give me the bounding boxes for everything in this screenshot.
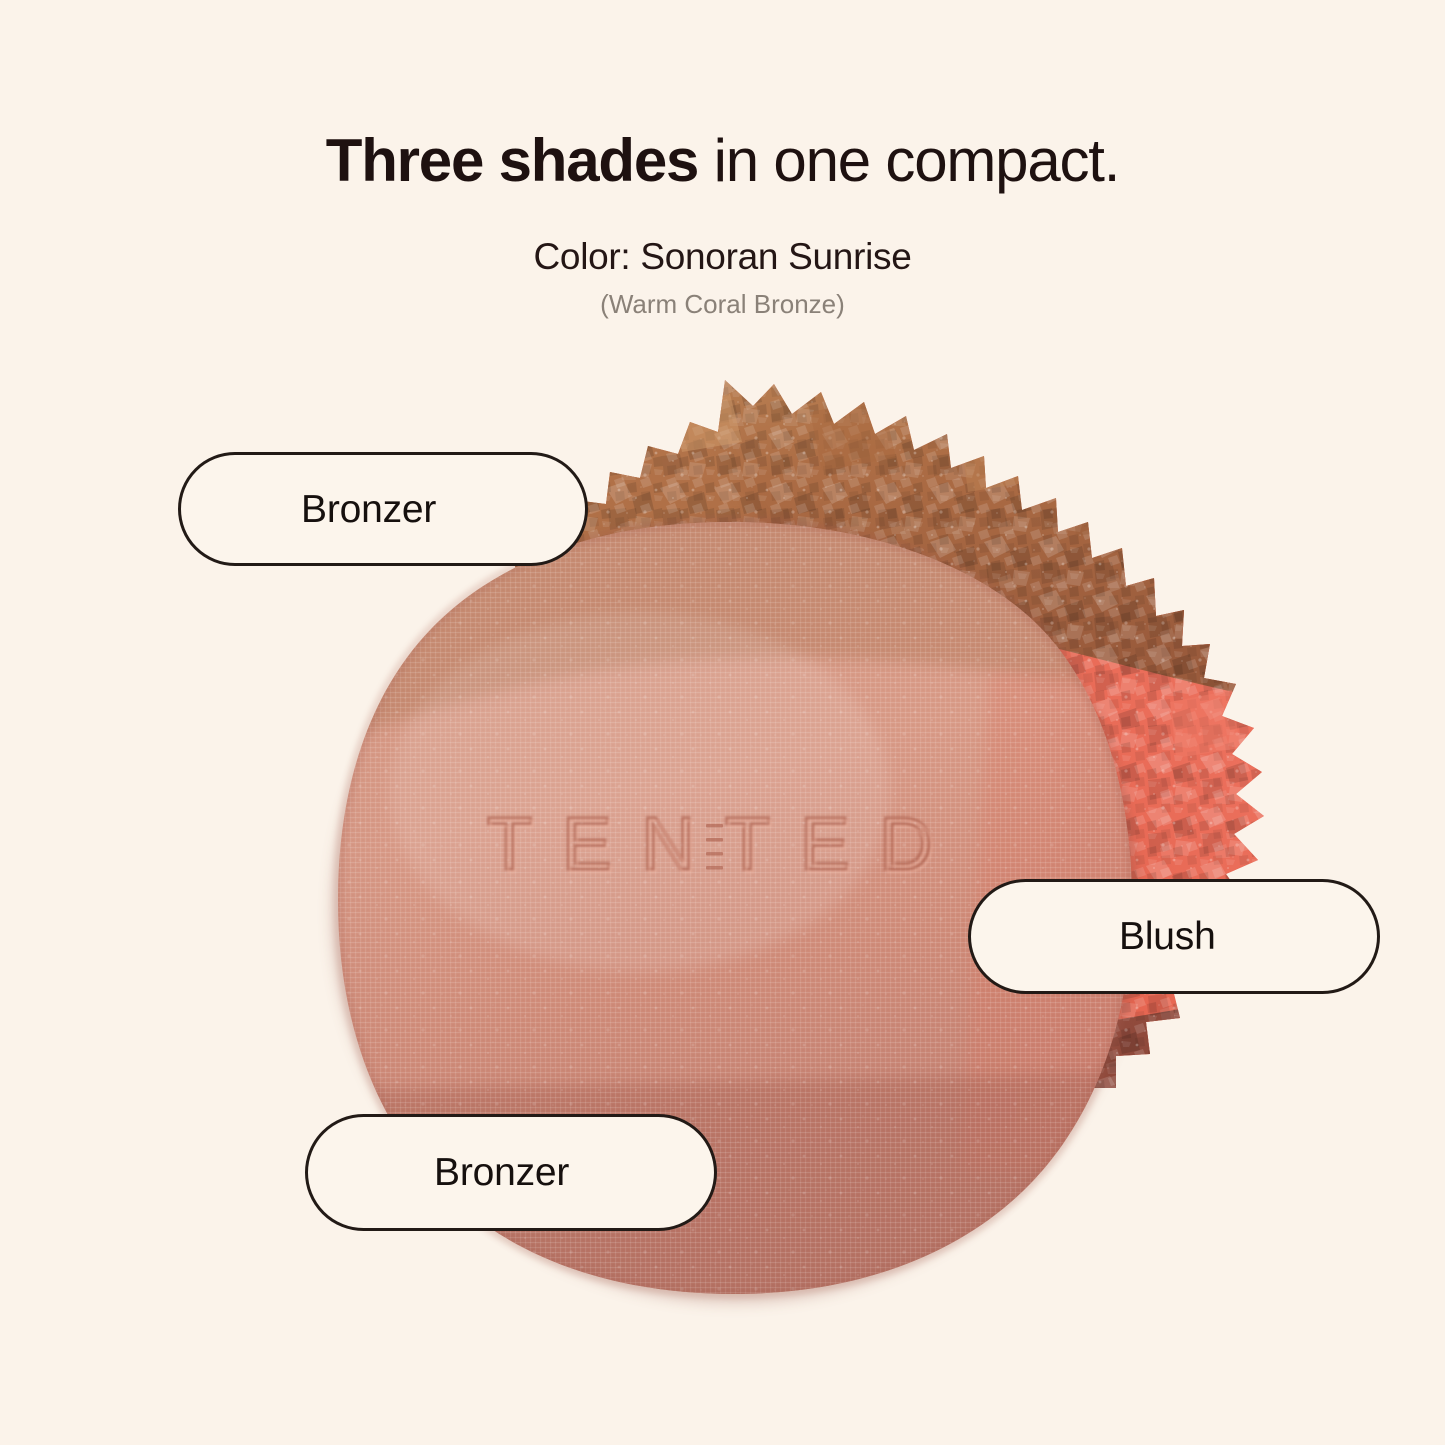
- callout-label: Bronzer: [434, 1153, 569, 1192]
- callout-label: Bronzer: [301, 490, 436, 529]
- svg-text:TENTED: TENTED: [489, 805, 965, 888]
- callout-bronzer-top[interactable]: Bronzer: [178, 452, 588, 566]
- headline-strong: Three shades: [326, 127, 698, 194]
- page-headline: Three shades in one compact.: [0, 131, 1445, 191]
- shade-subtitle: Color: Sonoran Sunrise: [0, 236, 1445, 278]
- headline-normal: in one compact.: [698, 127, 1119, 194]
- callout-bronzer-bottom[interactable]: Bronzer: [305, 1114, 717, 1231]
- shade-description-note: (Warm Coral Bronze): [0, 289, 1445, 320]
- callout-label: Blush: [1119, 917, 1216, 956]
- product-callout-graphic: Three shades in one compact. Color: Sono…: [0, 0, 1445, 1445]
- tented-emboss-logo: TENTED TENTED: [487, 802, 965, 888]
- callout-blush[interactable]: Blush: [968, 879, 1380, 994]
